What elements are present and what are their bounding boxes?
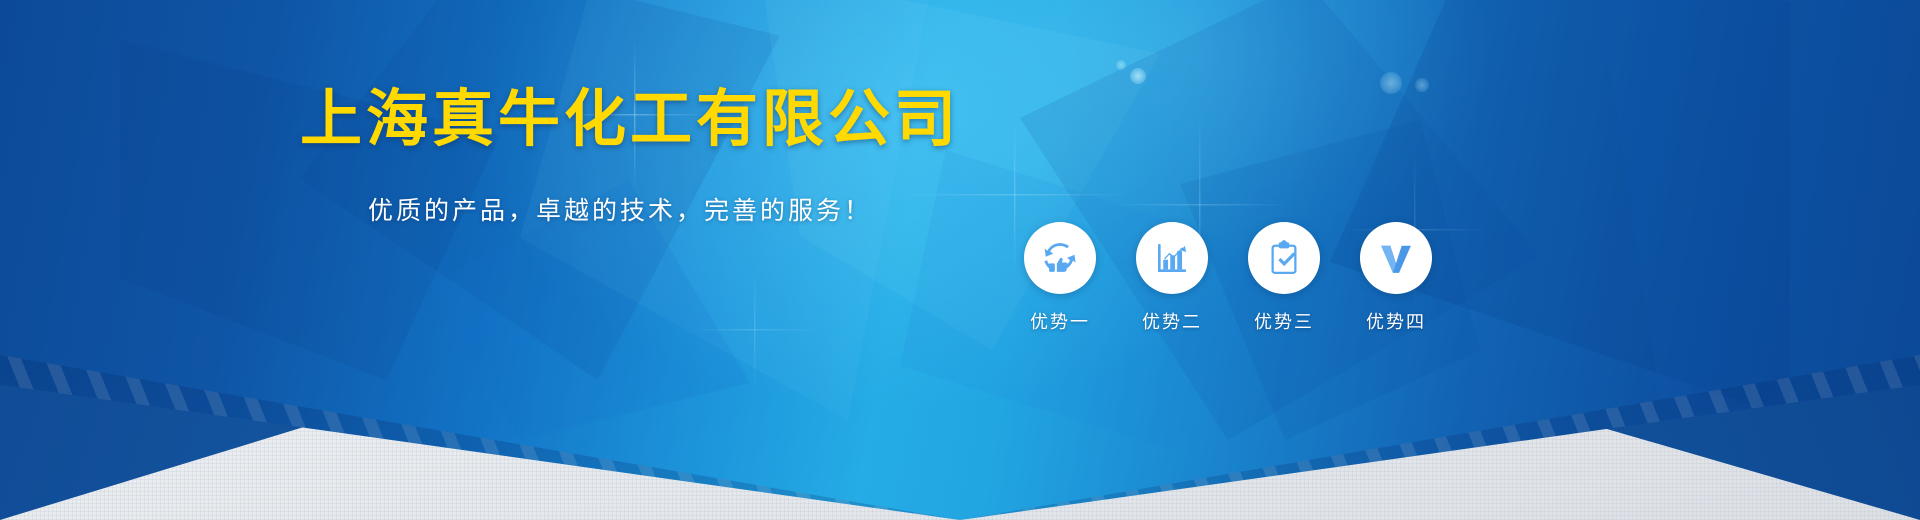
- advantage-item-3[interactable]: 优势三: [1244, 222, 1324, 334]
- light-dot: [1130, 68, 1146, 84]
- advantage-label: 优势二: [1142, 308, 1202, 334]
- company-hero-banner: 上海真牛化工有限公司 优质的产品，卓越的技术，完善的服务！: [0, 0, 1920, 520]
- light-dot: [1380, 72, 1402, 94]
- refresh-thumbs-up-icon: [1039, 237, 1081, 279]
- advantage-label: 优势三: [1254, 308, 1314, 334]
- v-checkmark-icon: [1375, 237, 1417, 279]
- advantage-item-1[interactable]: 优势一: [1020, 222, 1100, 334]
- advantage-item-2[interactable]: 优势二: [1132, 222, 1212, 334]
- advantage-list: 优势一: [1020, 222, 1436, 334]
- advantage-label: 优势四: [1366, 308, 1426, 334]
- company-tagline: 优质的产品，卓越的技术，完善的服务！: [368, 198, 872, 223]
- bar-chart-growth-icon: [1151, 237, 1193, 279]
- advantage-icon-circle: [1136, 222, 1208, 294]
- light-dot: [1116, 60, 1126, 70]
- advantage-icon-circle: [1360, 222, 1432, 294]
- advantage-label: 优势一: [1030, 308, 1090, 334]
- advantage-item-4[interactable]: 优势四: [1356, 222, 1436, 334]
- company-title: 上海真牛化工有限公司: [300, 88, 960, 150]
- advantage-icon-circle: [1248, 222, 1320, 294]
- light-dot: [1415, 78, 1429, 92]
- advantage-icon-circle: [1024, 222, 1096, 294]
- clipboard-check-icon: [1263, 237, 1305, 279]
